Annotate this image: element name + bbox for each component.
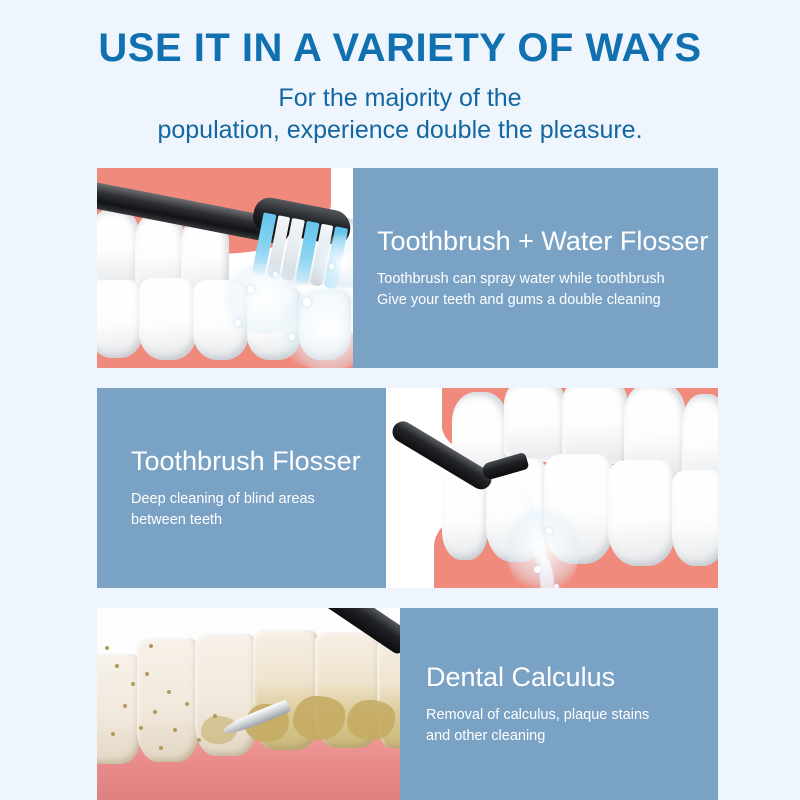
panel-title: Toothbrush Flosser	[131, 446, 364, 477]
subtitle-line-2: population, experience double the pleasu…	[0, 114, 800, 146]
panel-description: Deep cleaning of blind areas between tee…	[131, 489, 364, 530]
panel-description: Removal of calculus, plaque stains and o…	[426, 705, 696, 746]
illustration-calculus-removal	[97, 608, 400, 800]
feature-panel-list: Toothbrush + Water Flosser Toothbrush ca…	[97, 168, 718, 800]
panel-title: Toothbrush + Water Flosser	[377, 226, 708, 257]
header: USE IT IN A VARIETY OF WAYS For the majo…	[0, 0, 800, 146]
panel-desc-line-2: between teeth	[131, 510, 364, 531]
panel-desc-line-1: Deep cleaning of blind areas	[131, 489, 364, 510]
panel-title: Dental Calculus	[426, 662, 696, 693]
feature-panel-toothbrush-flosser: Toothbrush Flosser Deep cleaning of blin…	[97, 388, 718, 588]
subtitle-line-1: For the majority of the	[0, 82, 800, 114]
panel-desc-line-2: and other cleaning	[426, 726, 696, 747]
panel-text-block: Toothbrush + Water Flosser Toothbrush ca…	[353, 168, 718, 368]
panel-description: Toothbrush can spray water while toothbr…	[377, 269, 708, 310]
page-title: USE IT IN A VARIETY OF WAYS	[0, 26, 800, 70]
panel-desc-line-2: Give your teeth and gums a double cleani…	[377, 290, 708, 311]
panel-desc-line-1: Toothbrush can spray water while toothbr…	[377, 269, 708, 290]
page-subtitle: For the majority of the population, expe…	[0, 82, 800, 146]
panel-desc-line-1: Removal of calculus, plaque stains	[426, 705, 696, 726]
illustration-flosser-nozzle	[386, 388, 718, 588]
panel-text-block: Dental Calculus Removal of calculus, pla…	[400, 608, 718, 800]
feature-panel-dental-calculus: Dental Calculus Removal of calculus, pla…	[97, 608, 718, 800]
panel-text-block: Toothbrush Flosser Deep cleaning of blin…	[97, 388, 386, 588]
feature-panel-toothbrush-water-flosser: Toothbrush + Water Flosser Toothbrush ca…	[97, 168, 718, 368]
illustration-toothbrush-spraying-water	[97, 168, 353, 368]
